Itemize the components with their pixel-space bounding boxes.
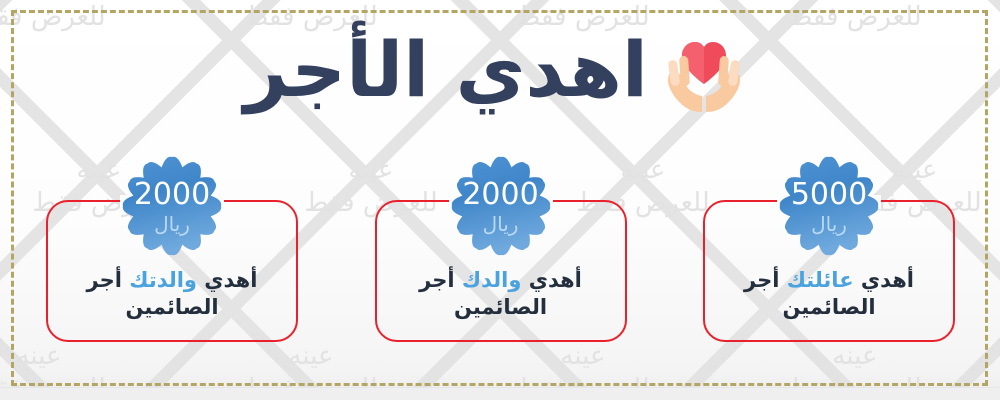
badge-content: 2000ريال (122, 156, 222, 256)
badge-amount: 2000 (134, 180, 210, 210)
heart-in-hands-icon (652, 22, 756, 126)
card-text-highlight: والدك (462, 268, 522, 292)
card-text-highlight: والدتك (129, 268, 197, 292)
amount-badge: 5000ريال (779, 156, 879, 256)
watermark-line-1: عينه (720, 340, 990, 373)
amount-badge: 2000ريال (122, 156, 222, 256)
badge-amount: 5000 (791, 180, 867, 210)
card-text-before: أهدي (854, 268, 914, 292)
base-strip (0, 387, 1000, 400)
tier-card[interactable]: 2000ريالأهدي والدتك أجر الصائمين (46, 200, 298, 342)
card-description: أهدي والدتك أجر الصائمين (48, 267, 296, 340)
card-text-before: أهدي (521, 268, 581, 292)
watermark-line-1: عينه (720, 0, 990, 1)
card-description: أهدي عائلتك أجر الصائمين (705, 267, 953, 340)
banner-header: اهدي الأجر (0, 8, 1000, 140)
tier-card[interactable]: 2000ريالأهدي والدك أجر الصائمين (375, 200, 627, 342)
card-text-highlight: عائلتك (787, 268, 854, 292)
watermark-line-1: عينه (176, 0, 446, 1)
tier-card[interactable]: 5000ريالأهدي عائلتك أجر الصائمين (703, 200, 955, 342)
watermark-line-1: عينه (448, 340, 718, 373)
badge-amount: 2000 (462, 180, 538, 210)
card-text-before: أهدي (197, 268, 257, 292)
watermark-line-1: عينه (0, 0, 174, 1)
watermark-line-1: عينه (992, 0, 1000, 1)
badge-currency: ريال (154, 214, 190, 234)
page-title: اهدي الأجر (244, 32, 648, 108)
amount-badge: 2000ريال (451, 156, 551, 256)
card-description: أهدي والدك أجر الصائمين (377, 267, 625, 340)
watermark-line-1: عينه (992, 340, 1000, 373)
watermark-line-1: عينه (176, 340, 446, 373)
tier-card-list: 5000ريالأهدي عائلتك أجر الصائمين2000ريال… (46, 200, 955, 342)
watermark-line-1: عينه (0, 340, 174, 373)
banner-canvas: عينهللعرض فقطعينهللعرض فقطعينهللعرض فقطع… (0, 0, 1000, 400)
badge-content: 2000ريال (451, 156, 551, 256)
badge-content: 5000ريال (779, 156, 879, 256)
badge-currency: ريال (483, 214, 519, 234)
watermark-line-1: عينه (448, 0, 718, 1)
badge-currency: ريال (811, 214, 847, 234)
